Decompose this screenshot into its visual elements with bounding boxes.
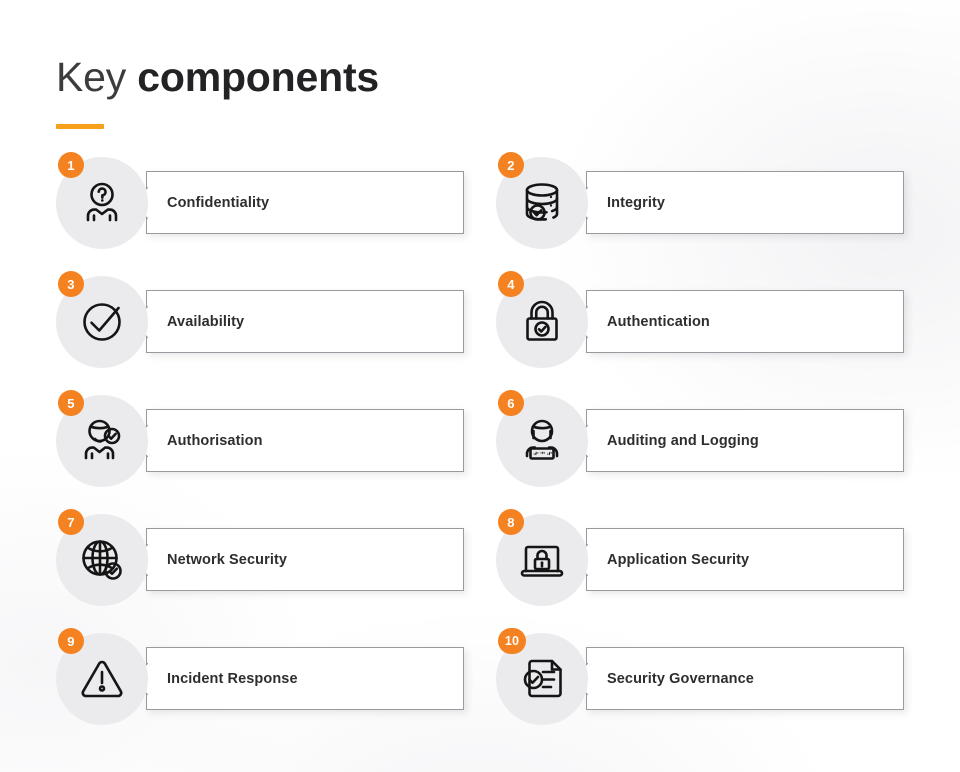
component-label: Confidentiality — [167, 195, 269, 211]
globe-check-icon — [77, 535, 127, 585]
component-label: Auditing and Logging — [607, 433, 759, 449]
database-check-icon — [517, 178, 567, 228]
component-item[interactable]: 8 Application Security — [496, 514, 904, 614]
component-item[interactable]: 1 Confidentiality — [56, 157, 464, 257]
item-number-badge: 9 — [58, 628, 84, 654]
component-label: Availability — [167, 314, 244, 330]
label-card[interactable]: Application Security — [586, 528, 904, 591]
component-item[interactable]: 4 Authentication — [496, 276, 904, 376]
page-header: Key components — [56, 48, 379, 129]
item-number-badge: 4 — [498, 271, 524, 297]
component-item[interactable]: 6 Auditing and Logging — [496, 395, 904, 495]
component-item[interactable]: 9 Incident Response — [56, 633, 464, 733]
label-card[interactable]: Authorisation — [146, 409, 464, 472]
component-item[interactable]: 10 Security Governance — [496, 633, 904, 733]
component-item[interactable]: 5 Authorisation — [56, 395, 464, 495]
item-number-badge: 10 — [498, 628, 526, 654]
label-card[interactable]: Integrity — [586, 171, 904, 234]
component-label: Application Security — [607, 552, 749, 568]
document-check-icon — [517, 654, 567, 704]
components-grid: 1 Confidentiality — [56, 157, 904, 733]
user-check-icon — [77, 416, 127, 466]
component-item[interactable]: 7 Network Security — [56, 514, 464, 614]
item-number-badge: 1 — [58, 152, 84, 178]
item-number-badge: 2 — [498, 152, 524, 178]
user-password-icon — [517, 416, 567, 466]
title-accent-bar — [56, 124, 104, 129]
label-card[interactable]: Auditing and Logging — [586, 409, 904, 472]
page-title-bold: components — [137, 54, 379, 100]
component-label: Authentication — [607, 314, 710, 330]
label-card[interactable]: Authentication — [586, 290, 904, 353]
padlock-check-icon — [517, 297, 567, 347]
label-card[interactable]: Confidentiality — [146, 171, 464, 234]
infographic-page: Key components 1 — [0, 0, 960, 772]
item-number-badge: 7 — [58, 509, 84, 535]
item-number-badge: 5 — [58, 390, 84, 416]
component-item[interactable]: 3 Availability — [56, 276, 464, 376]
component-label: Authorisation — [167, 433, 263, 449]
component-label: Security Governance — [607, 671, 754, 687]
warning-triangle-icon — [77, 654, 127, 704]
component-label: Network Security — [167, 552, 287, 568]
laptop-lock-icon — [517, 535, 567, 585]
item-number-badge: 8 — [498, 509, 524, 535]
user-question-icon — [77, 178, 127, 228]
component-label: Incident Response — [167, 671, 298, 687]
label-card[interactable]: Network Security — [146, 528, 464, 591]
label-card[interactable]: Incident Response — [146, 647, 464, 710]
label-card[interactable]: Availability — [146, 290, 464, 353]
check-circle-icon — [77, 297, 127, 347]
item-number-badge: 6 — [498, 390, 524, 416]
page-title-light: Key — [56, 54, 126, 100]
component-label: Integrity — [607, 195, 665, 211]
page-title: Key components — [56, 48, 379, 106]
item-number-badge: 3 — [58, 271, 84, 297]
component-item[interactable]: 2 Integrity — [496, 157, 904, 257]
label-card[interactable]: Security Governance — [586, 647, 904, 710]
